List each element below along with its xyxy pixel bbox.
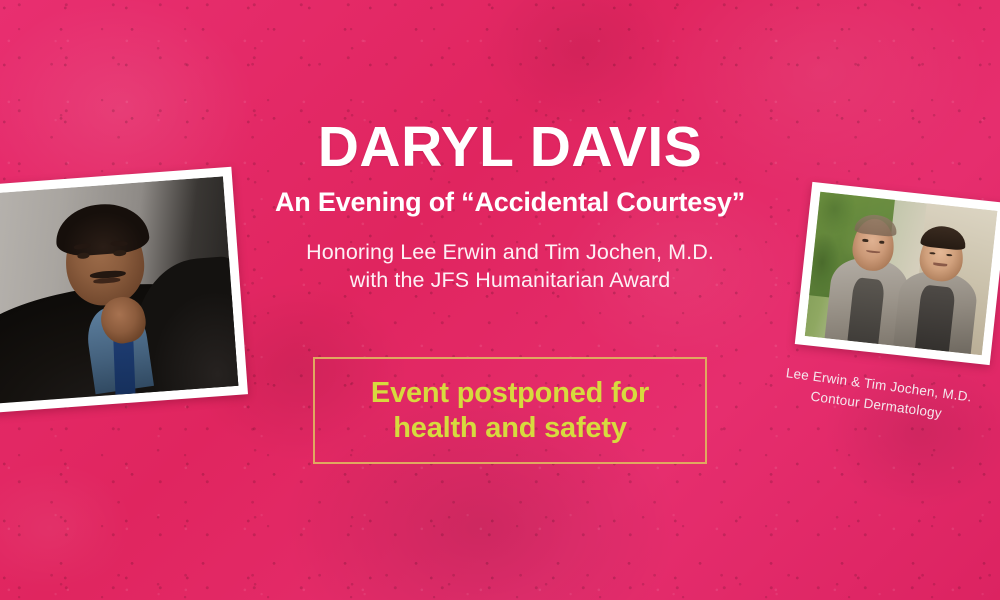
- honoring-block: Honoring Lee Erwin and Tim Jochen, M.D. …: [230, 238, 790, 295]
- postponement-notice-text: Event postponed for health and safety: [371, 376, 649, 444]
- honoring-line-2: with the JFS Humanitarian Award: [230, 266, 790, 294]
- eye-right: [879, 241, 884, 244]
- page-title: DARYL DAVIS: [230, 118, 790, 178]
- event-poster: Lee Erwin & Tim Jochen, M.D. Contour Der…: [0, 0, 1000, 600]
- honoring-line-1: Honoring Lee Erwin and Tim Jochen, M.D.: [230, 238, 790, 266]
- daryl-davis-photo-image: [0, 176, 238, 403]
- postponement-notice: Event postponed for health and safety: [313, 357, 707, 464]
- notice-line-2: health and safety: [371, 411, 649, 445]
- eye-left: [863, 239, 868, 242]
- person-tim-jochen: [893, 268, 979, 354]
- eye-left: [929, 252, 935, 255]
- eyebrow-right: [110, 241, 127, 247]
- smile-shape: [933, 262, 948, 266]
- eye-right: [946, 254, 952, 257]
- daryl-davis-photo: [0, 167, 248, 414]
- honorees-photo-image: [805, 192, 998, 355]
- smile-shape: [866, 250, 880, 254]
- poster-subtitle: An Evening of “Accidental Courtesy”: [230, 187, 790, 218]
- honorees-photo: [795, 182, 1000, 365]
- poster-text-column: DARYL DAVIS An Evening of “Accidental Co…: [230, 118, 790, 295]
- notice-line-1: Event postponed for: [371, 376, 649, 410]
- honorees-photo-caption: Lee Erwin & Tim Jochen, M.D. Contour Der…: [773, 362, 982, 428]
